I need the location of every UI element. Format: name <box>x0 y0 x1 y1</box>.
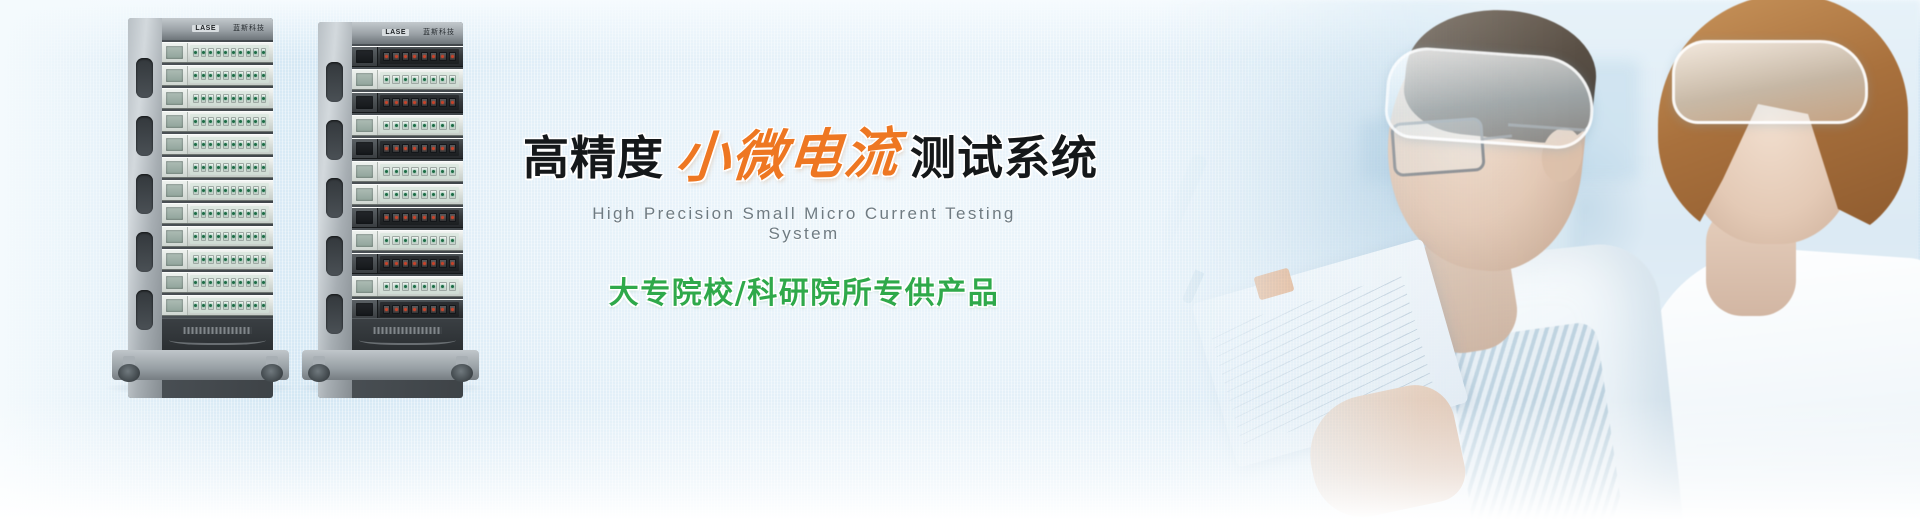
unit-front-panel <box>352 277 378 296</box>
rack-branding: LASE 蓝斯科技 <box>382 26 455 38</box>
channel-port <box>430 236 437 245</box>
rack-post-slot <box>326 236 343 276</box>
unit-channel-strip <box>380 141 459 156</box>
channel-port <box>201 163 207 172</box>
channel-port <box>402 121 409 130</box>
channel-port <box>201 255 207 264</box>
channel-port <box>193 48 199 57</box>
channel-port <box>216 278 222 287</box>
channel-port <box>216 71 222 80</box>
unit-front-panel <box>162 250 188 269</box>
unit-display <box>166 207 183 220</box>
channel-port <box>449 98 456 107</box>
unit-display <box>356 211 373 224</box>
rack-unit <box>162 203 273 224</box>
unit-front-panel <box>162 181 188 200</box>
rack-unit <box>352 92 463 113</box>
channel-port <box>208 255 214 264</box>
rack-left-post <box>318 22 352 398</box>
channel-port <box>253 163 259 172</box>
channel-port <box>392 259 399 268</box>
channel-port <box>223 94 229 103</box>
channel-port <box>439 52 446 61</box>
banner-tagline: 大专院校/科研院所专供产品 <box>523 268 1043 312</box>
channel-port <box>411 167 418 176</box>
unit-channel-strip <box>190 206 269 221</box>
channel-port <box>223 71 229 80</box>
channel-port <box>231 278 237 287</box>
rack-lower-panel <box>352 318 463 352</box>
channel-port <box>201 301 207 310</box>
channel-port <box>383 236 390 245</box>
channel-port <box>231 186 237 195</box>
unit-front-panel <box>162 43 188 62</box>
channel-port <box>392 282 399 291</box>
rack-base-plate <box>302 350 479 380</box>
rack-branding: LASE 蓝斯科技 <box>192 22 265 34</box>
channel-port <box>449 167 456 176</box>
channel-port <box>208 186 214 195</box>
channel-port <box>421 236 428 245</box>
headline-suffix: 测试系统 <box>910 135 1098 181</box>
channel-port <box>421 213 428 222</box>
rack-unit <box>352 207 463 228</box>
channel-port <box>238 255 244 264</box>
channel-port <box>402 75 409 84</box>
rack-unit <box>352 69 463 90</box>
channel-port <box>223 255 229 264</box>
rack-base-plate <box>112 350 289 380</box>
headline: 高精度 小微电流 测试系统 <box>523 128 1043 182</box>
channel-port <box>421 121 428 130</box>
unit-display <box>356 257 373 270</box>
rack-unit <box>352 253 463 274</box>
channel-port <box>449 121 456 130</box>
headline-accent: 小微电流 <box>674 125 903 185</box>
channel-port <box>201 232 207 241</box>
channel-port <box>383 98 390 107</box>
caster-wheel <box>261 364 283 382</box>
channel-port <box>392 144 399 153</box>
channel-port <box>392 121 399 130</box>
channel-port <box>392 213 399 222</box>
channel-port <box>402 167 409 176</box>
rack-caster <box>118 356 140 382</box>
channel-port <box>383 213 390 222</box>
channel-port <box>208 71 214 80</box>
channel-port <box>216 163 222 172</box>
channel-port <box>411 190 418 199</box>
channel-port <box>449 190 456 199</box>
channel-port <box>261 163 267 172</box>
channel-port <box>216 94 222 103</box>
channel-port <box>430 305 437 314</box>
channel-port <box>208 301 214 310</box>
channel-port <box>238 209 244 218</box>
unit-channel-strip <box>190 275 269 290</box>
channel-port <box>392 305 399 314</box>
channel-port <box>253 94 259 103</box>
channel-port <box>238 94 244 103</box>
unit-display <box>166 115 183 128</box>
channel-port <box>253 209 259 218</box>
rack-caster <box>261 356 283 382</box>
unit-front-panel <box>352 300 378 319</box>
channel-port <box>193 255 199 264</box>
rack-unit <box>162 226 273 247</box>
channel-port <box>201 117 207 126</box>
channel-port <box>402 98 409 107</box>
channel-port <box>201 71 207 80</box>
unit-channel-strip <box>190 45 269 60</box>
channel-port <box>261 48 267 57</box>
headline-subtitle-english: High Precision Small Micro Current Testi… <box>523 204 1043 244</box>
unit-front-panel <box>352 139 378 158</box>
unit-front-panel <box>352 185 378 204</box>
channel-port <box>411 98 418 107</box>
channel-port <box>439 259 446 268</box>
rack-brand-mark: LASE <box>382 29 409 36</box>
channel-port <box>411 52 418 61</box>
channel-port <box>402 213 409 222</box>
unit-display <box>356 50 373 63</box>
unit-display <box>356 280 373 293</box>
channel-port <box>201 94 207 103</box>
channel-port <box>430 75 437 84</box>
unit-front-panel <box>162 273 188 292</box>
channel-port <box>223 186 229 195</box>
channel-port <box>246 140 252 149</box>
channel-port <box>383 75 390 84</box>
channel-port <box>231 71 237 80</box>
channel-port <box>421 305 428 314</box>
channel-port <box>223 163 229 172</box>
unit-channel-strip <box>190 68 269 83</box>
channel-port <box>223 232 229 241</box>
channel-port <box>231 255 237 264</box>
channel-port <box>430 190 437 199</box>
unit-front-panel <box>162 112 188 131</box>
channel-port <box>231 117 237 126</box>
unit-display <box>166 46 183 59</box>
equipment-rack-left: LASE 蓝斯科技 <box>128 18 273 398</box>
channel-port <box>421 75 428 84</box>
channel-port <box>246 48 252 57</box>
rack-caster <box>451 356 473 382</box>
unit-front-panel <box>352 47 378 66</box>
channel-port <box>193 117 199 126</box>
channel-port <box>430 98 437 107</box>
channel-port <box>223 117 229 126</box>
rack-unit <box>352 115 463 136</box>
rack-post-slot <box>136 58 153 98</box>
unit-channel-strip <box>380 302 459 317</box>
channel-port <box>253 48 259 57</box>
channel-port <box>238 117 244 126</box>
channel-port <box>253 232 259 241</box>
rack-post-slot <box>136 116 153 156</box>
channel-port <box>193 94 199 103</box>
rack-unit <box>352 161 463 182</box>
unit-display <box>166 276 183 289</box>
channel-port <box>246 186 252 195</box>
channel-port <box>238 71 244 80</box>
rack-unit <box>162 295 273 316</box>
channel-port <box>421 144 428 153</box>
channel-port <box>261 71 267 80</box>
unit-front-panel <box>352 231 378 250</box>
channel-port <box>261 94 267 103</box>
rack-brand-mark: LASE <box>192 25 219 32</box>
unit-display <box>356 96 373 109</box>
channel-port <box>193 163 199 172</box>
channel-port <box>383 282 390 291</box>
channel-port <box>253 186 259 195</box>
unit-channel-strip <box>190 91 269 106</box>
channel-port <box>383 52 390 61</box>
channel-port <box>223 301 229 310</box>
channel-port <box>201 48 207 57</box>
unit-display <box>356 73 373 86</box>
channel-port <box>208 232 214 241</box>
channel-port <box>238 48 244 57</box>
channel-port <box>392 98 399 107</box>
channel-port <box>253 140 259 149</box>
channel-port <box>238 232 244 241</box>
channel-port <box>246 71 252 80</box>
channel-port <box>246 209 252 218</box>
channel-port <box>231 232 237 241</box>
channel-port <box>411 282 418 291</box>
equipment-rack-right: LASE 蓝斯科技 <box>318 22 463 398</box>
unit-channel-strip <box>190 252 269 267</box>
channel-port <box>430 52 437 61</box>
unit-display <box>166 92 183 105</box>
channel-port <box>246 163 252 172</box>
unit-display <box>356 303 373 316</box>
channel-port <box>216 209 222 218</box>
unit-front-panel <box>162 135 188 154</box>
woman-safety-goggles <box>1672 40 1868 124</box>
channel-port <box>238 278 244 287</box>
channel-port <box>392 236 399 245</box>
unit-channel-strip <box>380 256 459 271</box>
rack-brand-name-cn: 蓝斯科技 <box>233 23 265 33</box>
channel-port <box>193 209 199 218</box>
channel-port <box>411 236 418 245</box>
channel-port <box>261 232 267 241</box>
unit-display <box>166 253 183 266</box>
unit-front-panel <box>352 254 378 273</box>
unit-front-panel <box>352 116 378 135</box>
channel-port <box>238 140 244 149</box>
rack-unit <box>352 184 463 205</box>
channel-port <box>449 213 456 222</box>
rack-post-slot <box>326 62 343 102</box>
channel-port <box>208 163 214 172</box>
channel-port <box>411 75 418 84</box>
channel-port <box>402 259 409 268</box>
unit-front-panel <box>162 227 188 246</box>
channel-port <box>449 282 456 291</box>
unit-front-panel <box>162 89 188 108</box>
unit-front-panel <box>162 66 188 85</box>
product-banner: LASE 蓝斯科技 <box>0 0 1920 520</box>
channel-port <box>253 301 259 310</box>
channel-port <box>421 52 428 61</box>
banner-copy: 高精度 小微电流 测试系统 High Precision Small Micro… <box>523 128 1043 312</box>
channel-port <box>411 144 418 153</box>
channel-port <box>449 305 456 314</box>
channel-port <box>231 48 237 57</box>
rack-unit <box>352 299 463 320</box>
unit-front-panel <box>162 158 188 177</box>
channel-port <box>208 140 214 149</box>
channel-port <box>193 278 199 287</box>
channel-port <box>238 186 244 195</box>
rack-unit <box>162 42 273 63</box>
unit-channel-strip <box>190 114 269 129</box>
rack-unit <box>352 46 463 67</box>
channel-port <box>449 259 456 268</box>
channel-port <box>238 301 244 310</box>
channel-port <box>246 301 252 310</box>
channel-port <box>231 301 237 310</box>
rack-unit <box>162 65 273 86</box>
rack-post-slot <box>136 174 153 214</box>
unit-channel-strip <box>190 229 269 244</box>
channel-port <box>430 144 437 153</box>
channel-port <box>253 278 259 287</box>
channel-port <box>193 140 199 149</box>
rack-post-slot <box>136 290 153 330</box>
unit-channel-strip <box>380 233 459 248</box>
rack-unit <box>162 249 273 270</box>
channel-port <box>201 140 207 149</box>
unit-display <box>166 161 183 174</box>
channel-port <box>208 278 214 287</box>
channel-port <box>383 167 390 176</box>
channel-port <box>439 75 446 84</box>
channel-port <box>223 48 229 57</box>
channel-port <box>216 186 222 195</box>
channel-port <box>223 140 229 149</box>
rack-post-slot <box>326 178 343 218</box>
channel-port <box>439 144 446 153</box>
channel-port <box>430 167 437 176</box>
unit-channel-strip <box>190 160 269 175</box>
unit-display <box>356 234 373 247</box>
channel-port <box>193 301 199 310</box>
channel-port <box>261 209 267 218</box>
channel-port <box>193 71 199 80</box>
channel-port <box>411 121 418 130</box>
unit-front-panel <box>162 296 188 315</box>
channel-port <box>216 232 222 241</box>
channel-port <box>439 213 446 222</box>
channel-port <box>439 282 446 291</box>
unit-front-panel <box>352 70 378 89</box>
channel-port <box>439 121 446 130</box>
channel-port <box>449 236 456 245</box>
channel-port <box>246 255 252 264</box>
channel-port <box>402 305 409 314</box>
rack-post-slot <box>326 120 343 160</box>
rack-lower-panel <box>162 318 273 352</box>
rack-unit <box>162 111 273 132</box>
channel-port <box>261 301 267 310</box>
channel-port <box>402 190 409 199</box>
channel-port <box>383 305 390 314</box>
rack-left-post <box>128 18 162 398</box>
channel-port <box>231 140 237 149</box>
unit-display <box>166 299 183 312</box>
channel-port <box>449 52 456 61</box>
channel-port <box>216 301 222 310</box>
caster-wheel <box>118 364 140 382</box>
unit-display <box>356 165 373 178</box>
unit-channel-strip <box>380 210 459 225</box>
unit-display <box>356 188 373 201</box>
channel-port <box>402 52 409 61</box>
channel-port <box>246 278 252 287</box>
unit-front-panel <box>352 162 378 181</box>
channel-port <box>223 209 229 218</box>
unit-display <box>166 138 183 151</box>
channel-port <box>261 255 267 264</box>
unit-front-panel <box>162 204 188 223</box>
unit-display <box>166 230 183 243</box>
unit-channel-strip <box>380 164 459 179</box>
channel-port <box>261 117 267 126</box>
unit-display <box>166 184 183 197</box>
rack-caster <box>308 356 330 382</box>
channel-port <box>383 121 390 130</box>
channel-port <box>231 94 237 103</box>
unit-channel-strip <box>380 118 459 133</box>
rack-post-slot <box>326 294 343 334</box>
channel-port <box>383 144 390 153</box>
unit-channel-strip <box>190 183 269 198</box>
channel-port <box>383 190 390 199</box>
channel-port <box>411 259 418 268</box>
rack-post-slot <box>136 232 153 272</box>
unit-channel-strip <box>190 137 269 152</box>
channel-port <box>253 117 259 126</box>
channel-port <box>223 278 229 287</box>
channel-port <box>238 163 244 172</box>
rack-unit <box>162 134 273 155</box>
channel-port <box>402 236 409 245</box>
channel-port <box>421 98 428 107</box>
channel-port <box>193 186 199 195</box>
channel-port <box>411 213 418 222</box>
unit-channel-strip <box>380 72 459 87</box>
channel-port <box>430 282 437 291</box>
caster-wheel <box>451 364 473 382</box>
channel-port <box>439 167 446 176</box>
channel-port <box>201 186 207 195</box>
channel-port <box>201 278 207 287</box>
channel-port <box>402 144 409 153</box>
channel-port <box>261 278 267 287</box>
channel-port <box>439 190 446 199</box>
channel-port <box>246 94 252 103</box>
channel-port <box>392 167 399 176</box>
channel-port <box>231 209 237 218</box>
channel-port <box>430 259 437 268</box>
channel-port <box>261 140 267 149</box>
